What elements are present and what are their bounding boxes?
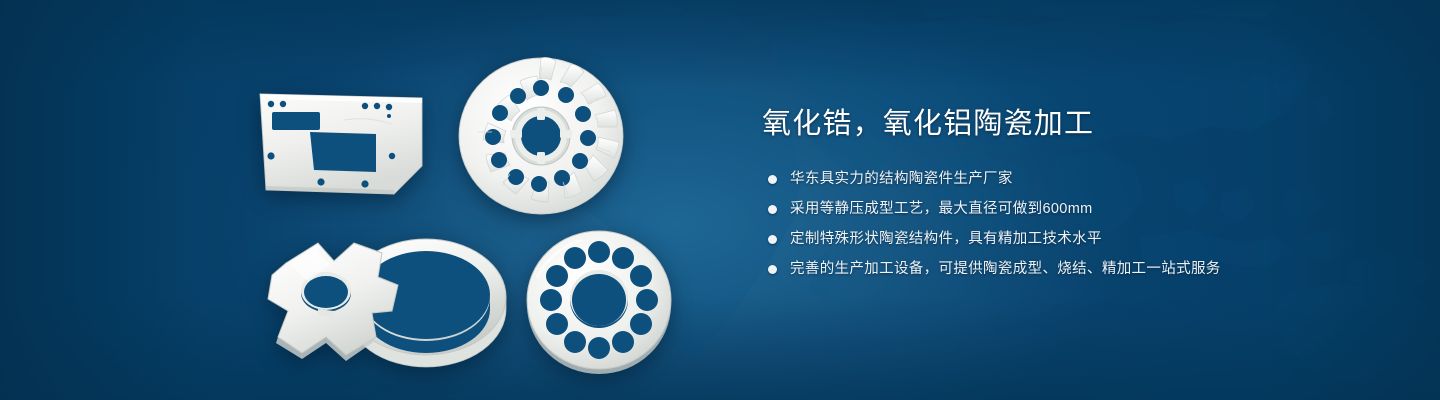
bullet-text: 采用等静压成型工艺，最大直径可做到600mm	[790, 198, 1093, 220]
ceramic-impeller-disc-photo	[450, 52, 632, 218]
list-item: 采用等静压成型工艺，最大直径可做到600mm	[762, 198, 1382, 220]
bullet-dot-icon	[768, 235, 777, 244]
ceramic-machined-plate-photo	[252, 82, 430, 202]
bullet-text: 华东具实力的结构陶瓷件生产厂家	[790, 168, 1013, 190]
feature-bullet-list: 华东具实力的结构陶瓷件生产厂家 采用等静压成型工艺，最大直径可做到600mm 定…	[762, 168, 1382, 280]
list-item: 定制特殊形状陶瓷结构件，具有精加工技术水平	[762, 228, 1382, 250]
ceramic-cross-plate-and-ring-photo	[250, 225, 530, 375]
ceramic-products-hero-banner: 氧化锆，氧化铝陶瓷加工 华东具实力的结构陶瓷件生产厂家 采用等静压成型工艺，最大…	[0, 0, 1440, 400]
list-item: 华东具实力的结构陶瓷件生产厂家	[762, 168, 1382, 190]
bullet-text: 完善的生产加工设备，可提供陶瓷成型、烧结、精加工一站式服务	[790, 258, 1221, 280]
list-item: 完善的生产加工设备，可提供陶瓷成型、烧结、精加工一站式服务	[762, 258, 1382, 280]
banner-copy-block: 氧化锆，氧化铝陶瓷加工 华东具实力的结构陶瓷件生产厂家 采用等静压成型工艺，最大…	[762, 104, 1382, 280]
bullet-dot-icon	[768, 265, 777, 274]
page-title: 氧化锆，氧化铝陶瓷加工	[762, 104, 1382, 144]
bullet-dot-icon	[768, 175, 777, 184]
bullet-text: 定制特殊形状陶瓷结构件，具有精加工技术水平	[790, 228, 1102, 250]
ceramic-perforated-ring-photo	[515, 226, 683, 374]
bullet-dot-icon	[768, 205, 777, 214]
